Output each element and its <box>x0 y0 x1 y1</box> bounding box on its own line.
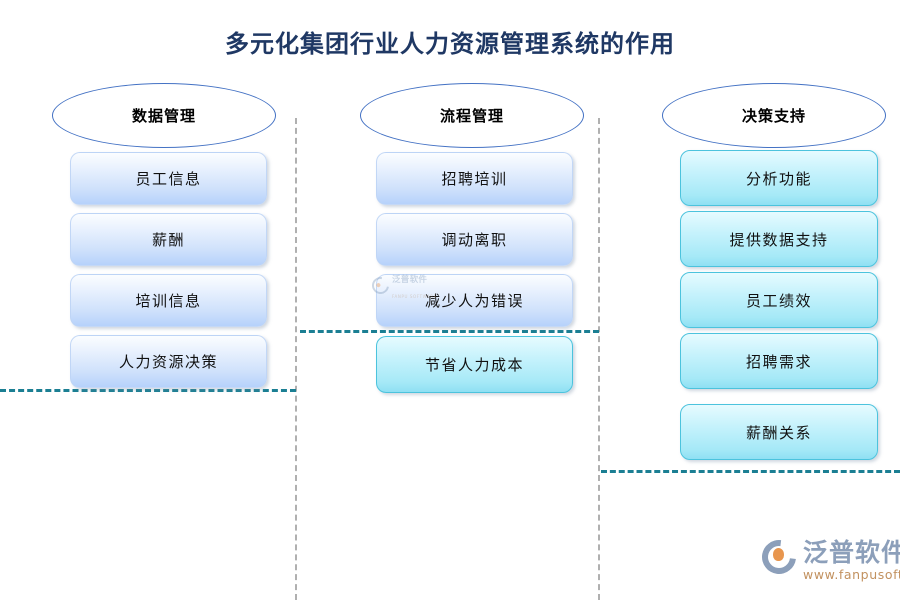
item-box[interactable]: 人力资源决策 <box>70 335 267 388</box>
column-head-ellipse-2: 流程管理 <box>360 83 584 148</box>
item-box[interactable]: 招聘需求 <box>680 333 878 389</box>
item-label: 薪酬关系 <box>746 422 812 443</box>
column-head-label: 数据管理 <box>132 105 196 126</box>
brand-url: www.fanpusoft.com <box>803 569 900 582</box>
column-data-management: 数据管理 员工信息 薪酬 培训信息 人力资源决策 <box>0 0 300 600</box>
item-label: 调动离职 <box>441 229 507 250</box>
column-head-ellipse-3: 决策支持 <box>662 83 886 148</box>
item-label: 招聘培训 <box>441 168 507 189</box>
fanpu-logo-icon <box>762 540 796 574</box>
item-label: 员工绩效 <box>746 290 812 311</box>
column-head-ellipse-1: 数据管理 <box>52 83 276 148</box>
item-label: 招聘需求 <box>746 351 812 372</box>
item-label: 员工信息 <box>135 168 201 189</box>
item-box[interactable]: 薪酬关系 <box>680 404 878 460</box>
item-box-highlighted[interactable]: 节省人力成本 <box>376 336 573 393</box>
brand-logo: 泛普软件 www.fanpusoft.com <box>762 538 900 582</box>
item-label: 减少人为错误 <box>425 290 524 311</box>
item-box[interactable]: 薪酬 <box>70 213 267 266</box>
item-label: 提供数据支持 <box>729 229 828 250</box>
item-box[interactable]: 员工绩效 <box>680 272 878 328</box>
column-process-management: 流程管理 招聘培训 调动离职 减少人为错误 节省人力成本 泛普软件 FANPU … <box>300 0 600 600</box>
item-box[interactable]: 员工信息 <box>70 152 267 205</box>
item-box[interactable]: 提供数据支持 <box>680 211 878 267</box>
column-decision-support: 决策支持 分析功能 提供数据支持 员工绩效 招聘需求 薪酬关系 <box>600 0 900 600</box>
item-label: 分析功能 <box>746 168 812 189</box>
item-label: 薪酬 <box>152 229 185 250</box>
item-box[interactable]: 调动离职 <box>376 213 573 266</box>
item-box[interactable]: 分析功能 <box>680 150 878 206</box>
column-head-label: 流程管理 <box>440 105 504 126</box>
column-head-label: 决策支持 <box>742 105 806 126</box>
item-label: 培训信息 <box>135 290 201 311</box>
item-box[interactable]: 招聘培训 <box>376 152 573 205</box>
item-label: 节省人力成本 <box>425 354 524 375</box>
item-box[interactable]: 培训信息 <box>70 274 267 327</box>
brand-name: 泛普软件 <box>803 538 900 567</box>
diagram-canvas: 多元化集团行业人力资源管理系统的作用 数据管理 员工信息 薪酬 培训信息 人力资… <box>0 0 900 600</box>
item-box[interactable]: 减少人为错误 <box>376 274 573 327</box>
item-label: 人力资源决策 <box>119 351 218 372</box>
